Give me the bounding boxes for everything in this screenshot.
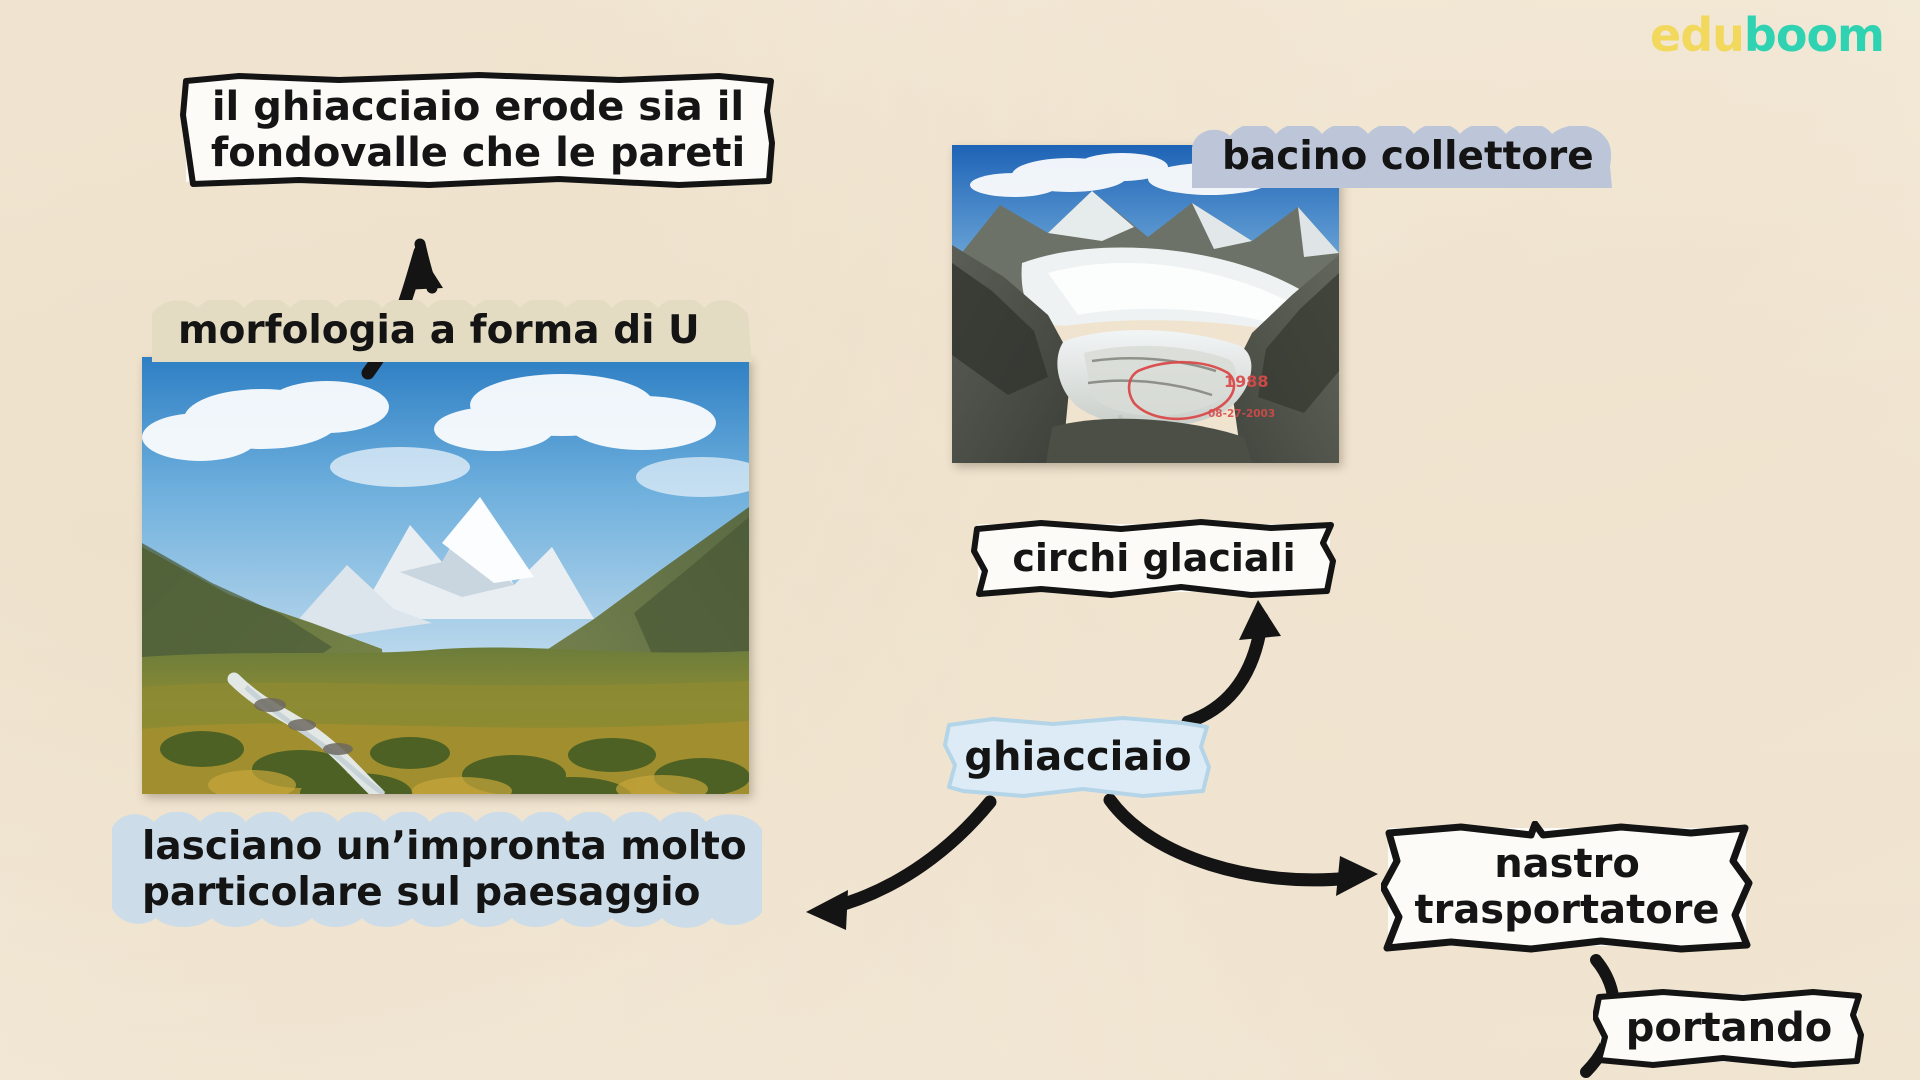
node-carrying[interactable]: portando — [1600, 994, 1858, 1062]
arrow-ghiacciaio-to-cirques — [1188, 600, 1281, 722]
svg-text:08-27-2003: 08-27-2003 — [1208, 408, 1275, 420]
svg-text:1988: 1988 — [1224, 372, 1269, 391]
brand-logo: eduboom — [1650, 12, 1884, 58]
label-u-morphology[interactable]: morfologia a forma di U — [152, 300, 752, 362]
node-conveyor-belt-label: nastro trasportatore — [1398, 841, 1735, 934]
label-u-morphology-text: morfologia a forma di U — [178, 310, 700, 353]
arrow-ghiacciaio-to-conveyor — [1110, 800, 1378, 896]
note-erosion-label: il ghiacciaio erode sia il fondovalle ch… — [195, 84, 761, 177]
note-landscape-imprint-text: lasciano un’impronta molto particolare s… — [142, 824, 747, 916]
node-cirques[interactable]: circhi glaciali — [978, 524, 1330, 592]
node-cirques-label: circhi glaciali — [996, 536, 1311, 580]
node-conveyor-belt[interactable]: nastro trasportatore — [1388, 828, 1746, 946]
brand-logo-edu: edu — [1650, 8, 1744, 62]
brand-logo-boom: boom — [1744, 8, 1884, 62]
label-collector-basin-text: bacino collettore — [1222, 136, 1594, 179]
collector-basin-glacier-photo: 1988 08-27-2003 — [952, 145, 1339, 463]
label-collector-basin[interactable]: bacino collettore — [1192, 126, 1612, 188]
node-ghiacciaio[interactable]: ghiacciaio — [952, 722, 1204, 792]
node-carrying-label: portando — [1610, 1005, 1849, 1051]
arrow-ghiacciaio-to-landscape-note — [806, 802, 990, 930]
u-shaped-glacial-valley-photo — [142, 357, 749, 794]
note-erosion[interactable]: il ghiacciaio erode sia il fondovalle ch… — [186, 78, 770, 182]
note-landscape-imprint[interactable]: lasciano un’impronta molto particolare s… — [112, 812, 762, 928]
node-ghiacciaio-label: ghiacciaio — [964, 734, 1191, 780]
mindmap-canvas: 1988 08-27-2003 edub — [0, 0, 1920, 1080]
